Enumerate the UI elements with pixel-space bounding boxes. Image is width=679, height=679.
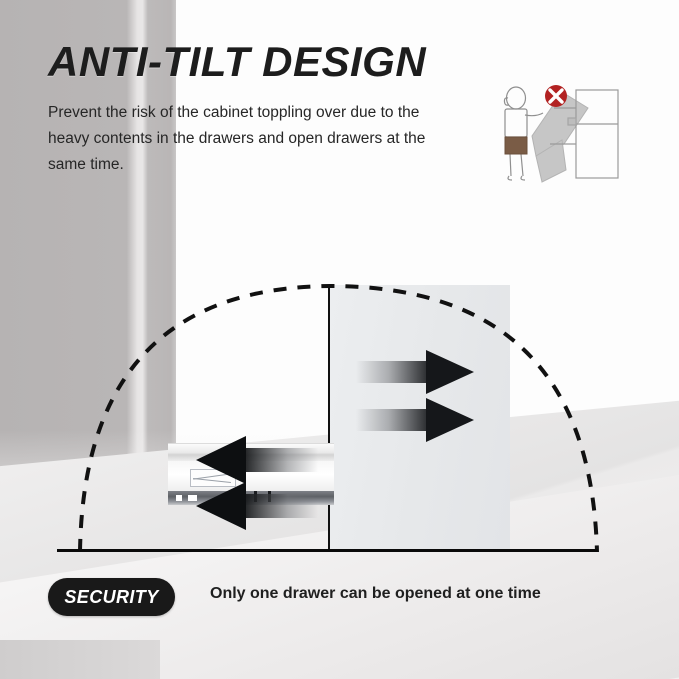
status-badge: SECURITY [48, 578, 175, 616]
page-description: Prevent the risk of the cabinet toppling… [48, 100, 448, 178]
tilt-trajectory-arc [0, 260, 679, 560]
status-badge-label: SECURITY [64, 587, 158, 608]
footer-caption: Only one drawer can be opened at one tim… [210, 585, 541, 603]
infographic-canvas: ANTI-TILT DESIGN Prevent the risk of the… [0, 0, 679, 679]
page-title: ANTI-TILT DESIGN [48, 38, 426, 86]
floor-baseline [57, 549, 598, 552]
person-pushing-tilting-cabinet-icon [492, 78, 632, 188]
background-bottom-left-block [0, 640, 160, 679]
